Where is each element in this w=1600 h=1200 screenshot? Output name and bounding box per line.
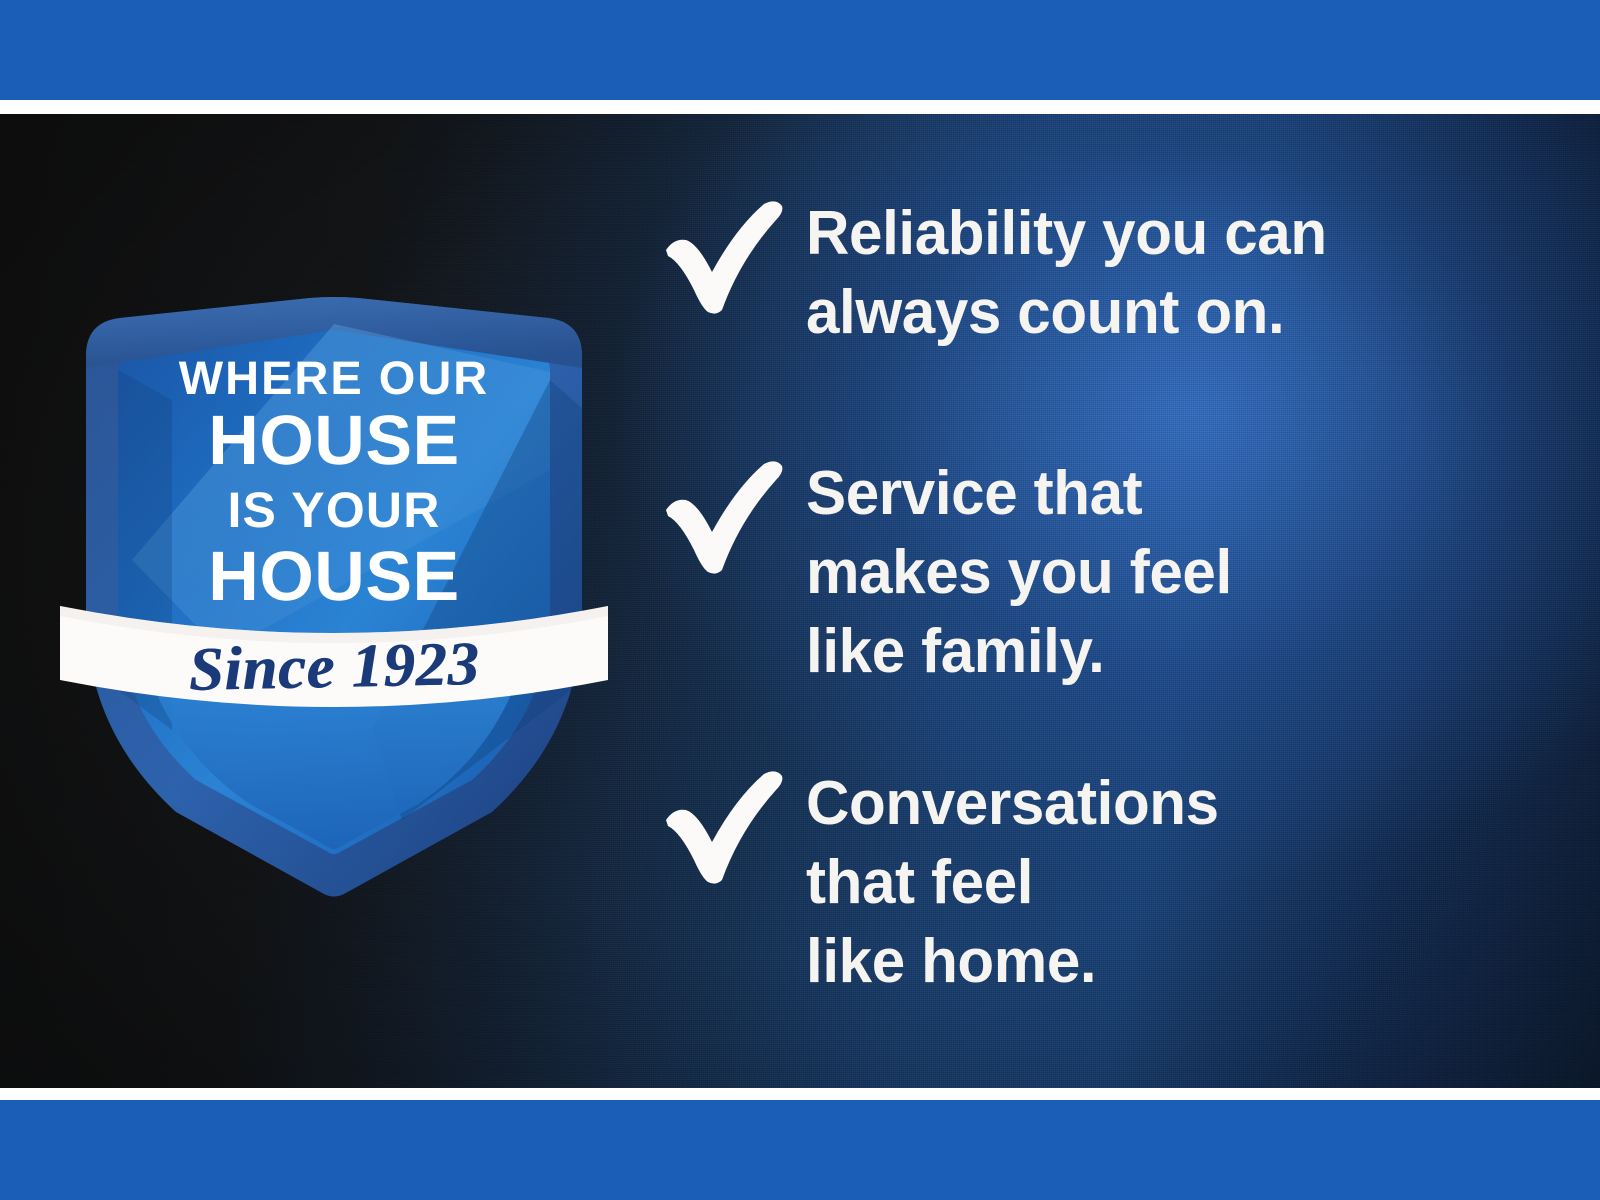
brand-band-top [0, 0, 1600, 100]
benefit-list: Reliability you can always count on. Ser… [660, 114, 1560, 1088]
band-divider-bottom [0, 1088, 1600, 1100]
band-divider-top [0, 100, 1600, 114]
check-icon [660, 768, 788, 886]
benefit-text-1: Reliability you can always count on. [806, 194, 1327, 352]
promo-poster: WHERE OUR HOUSE IS YOUR HOUSE Since 1923 [0, 0, 1600, 1200]
benefit-item-2: Service that makes you feel like family. [660, 454, 1245, 691]
ribbon-since-label: Since 1923 [53, 630, 614, 704]
check-icon [660, 458, 788, 576]
benefit-text-3: Conversations that feel like home. [806, 764, 1219, 1001]
benefit-item-1: Reliability you can always count on. [660, 194, 1343, 352]
brand-band-bottom [0, 1100, 1600, 1200]
shield-badge: WHERE OUR HOUSE IS YOUR HOUSE Since 1923 [72, 260, 596, 900]
check-icon [660, 198, 788, 316]
benefit-item-3: Conversations that feel like home. [660, 764, 1231, 1001]
poster-stage: WHERE OUR HOUSE IS YOUR HOUSE Since 1923 [0, 114, 1600, 1088]
badge-ribbon: Since 1923 [54, 588, 614, 718]
benefit-text-2: Service that makes you feel like family. [806, 454, 1232, 691]
